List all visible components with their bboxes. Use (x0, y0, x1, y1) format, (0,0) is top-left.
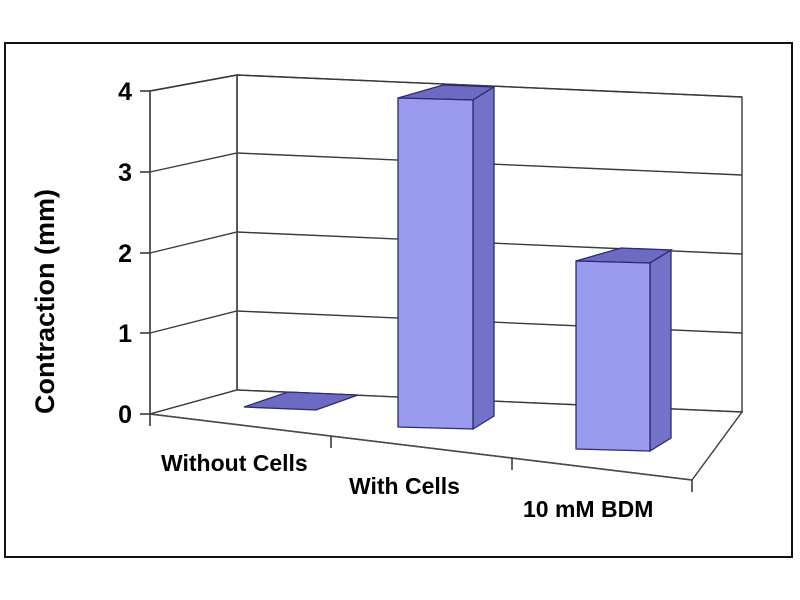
category-label-without-cells: Without Cells (161, 450, 308, 476)
y-tick-label-4: 4 (118, 78, 132, 106)
y-tick-label-0: 0 (118, 401, 132, 429)
y-tick-label-2: 2 (118, 240, 132, 268)
bar-10mm-bdm-front (576, 261, 650, 451)
bar-with-cells-front (398, 98, 473, 429)
y-axis-title-group: Contraction (mm) (30, 189, 60, 414)
figure-canvas: 4 3 2 1 0 (0, 0, 800, 600)
bar-10mm-bdm-side (650, 250, 671, 451)
left-wall-panel (150, 75, 237, 414)
y-axis-title: Contraction (mm) (30, 189, 60, 414)
chart-frame: 4 3 2 1 0 (4, 42, 793, 558)
bar-10mm-bdm[interactable] (576, 248, 671, 451)
y-tick-labels: 4 3 2 1 0 (118, 78, 132, 429)
y-tick-label-1: 1 (118, 320, 132, 348)
chart-plot-area: 4 3 2 1 0 (6, 44, 795, 560)
y-tick-label-3: 3 (118, 159, 132, 187)
category-label-with-cells: With Cells (349, 473, 460, 499)
bar-with-cells[interactable] (398, 85, 494, 429)
bar-with-cells-side (473, 87, 494, 429)
category-label-10mm-bdm: 10 mM BDM (523, 496, 653, 522)
left-side-wall (150, 75, 237, 414)
